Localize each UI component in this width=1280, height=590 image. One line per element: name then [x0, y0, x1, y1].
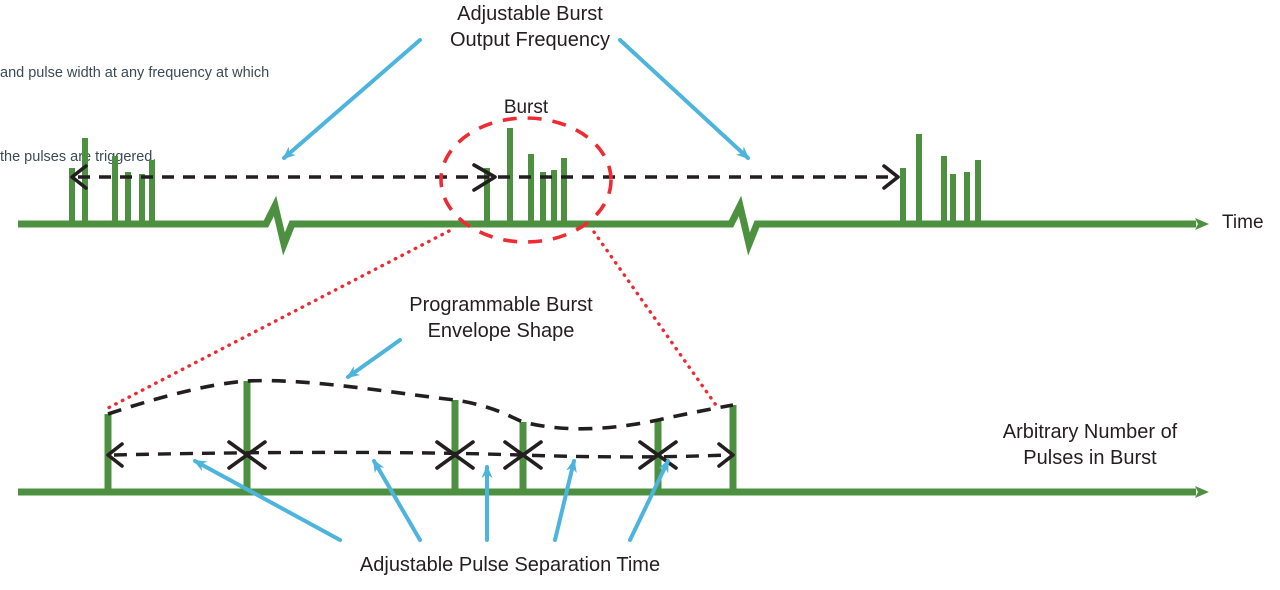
pulse-group-expanded-burst	[108, 381, 733, 492]
arrow-frequency-left	[284, 40, 420, 158]
lower-signal-trace	[18, 381, 1196, 492]
arrow-frequency-right	[620, 40, 748, 158]
arrow-separation-4	[555, 461, 574, 540]
pulse-group-burst-left	[72, 138, 152, 224]
arrow-separation-5	[630, 461, 668, 540]
callout-connector-right	[594, 232, 718, 408]
arrow-separation-1	[195, 461, 340, 540]
arrow-envelope-shape	[348, 340, 400, 377]
diagram-vector-layer	[0, 0, 1280, 590]
pulse-group-burst-right	[903, 134, 978, 224]
upper-baseline	[18, 206, 1174, 244]
burst-envelope-curve	[108, 381, 733, 429]
upper-signal-trace	[18, 128, 1196, 244]
callout-connectors	[108, 231, 718, 408]
arrow-separation-2	[374, 461, 420, 540]
diagram-canvas: and pulse width at any frequency at whic…	[0, 0, 1280, 590]
